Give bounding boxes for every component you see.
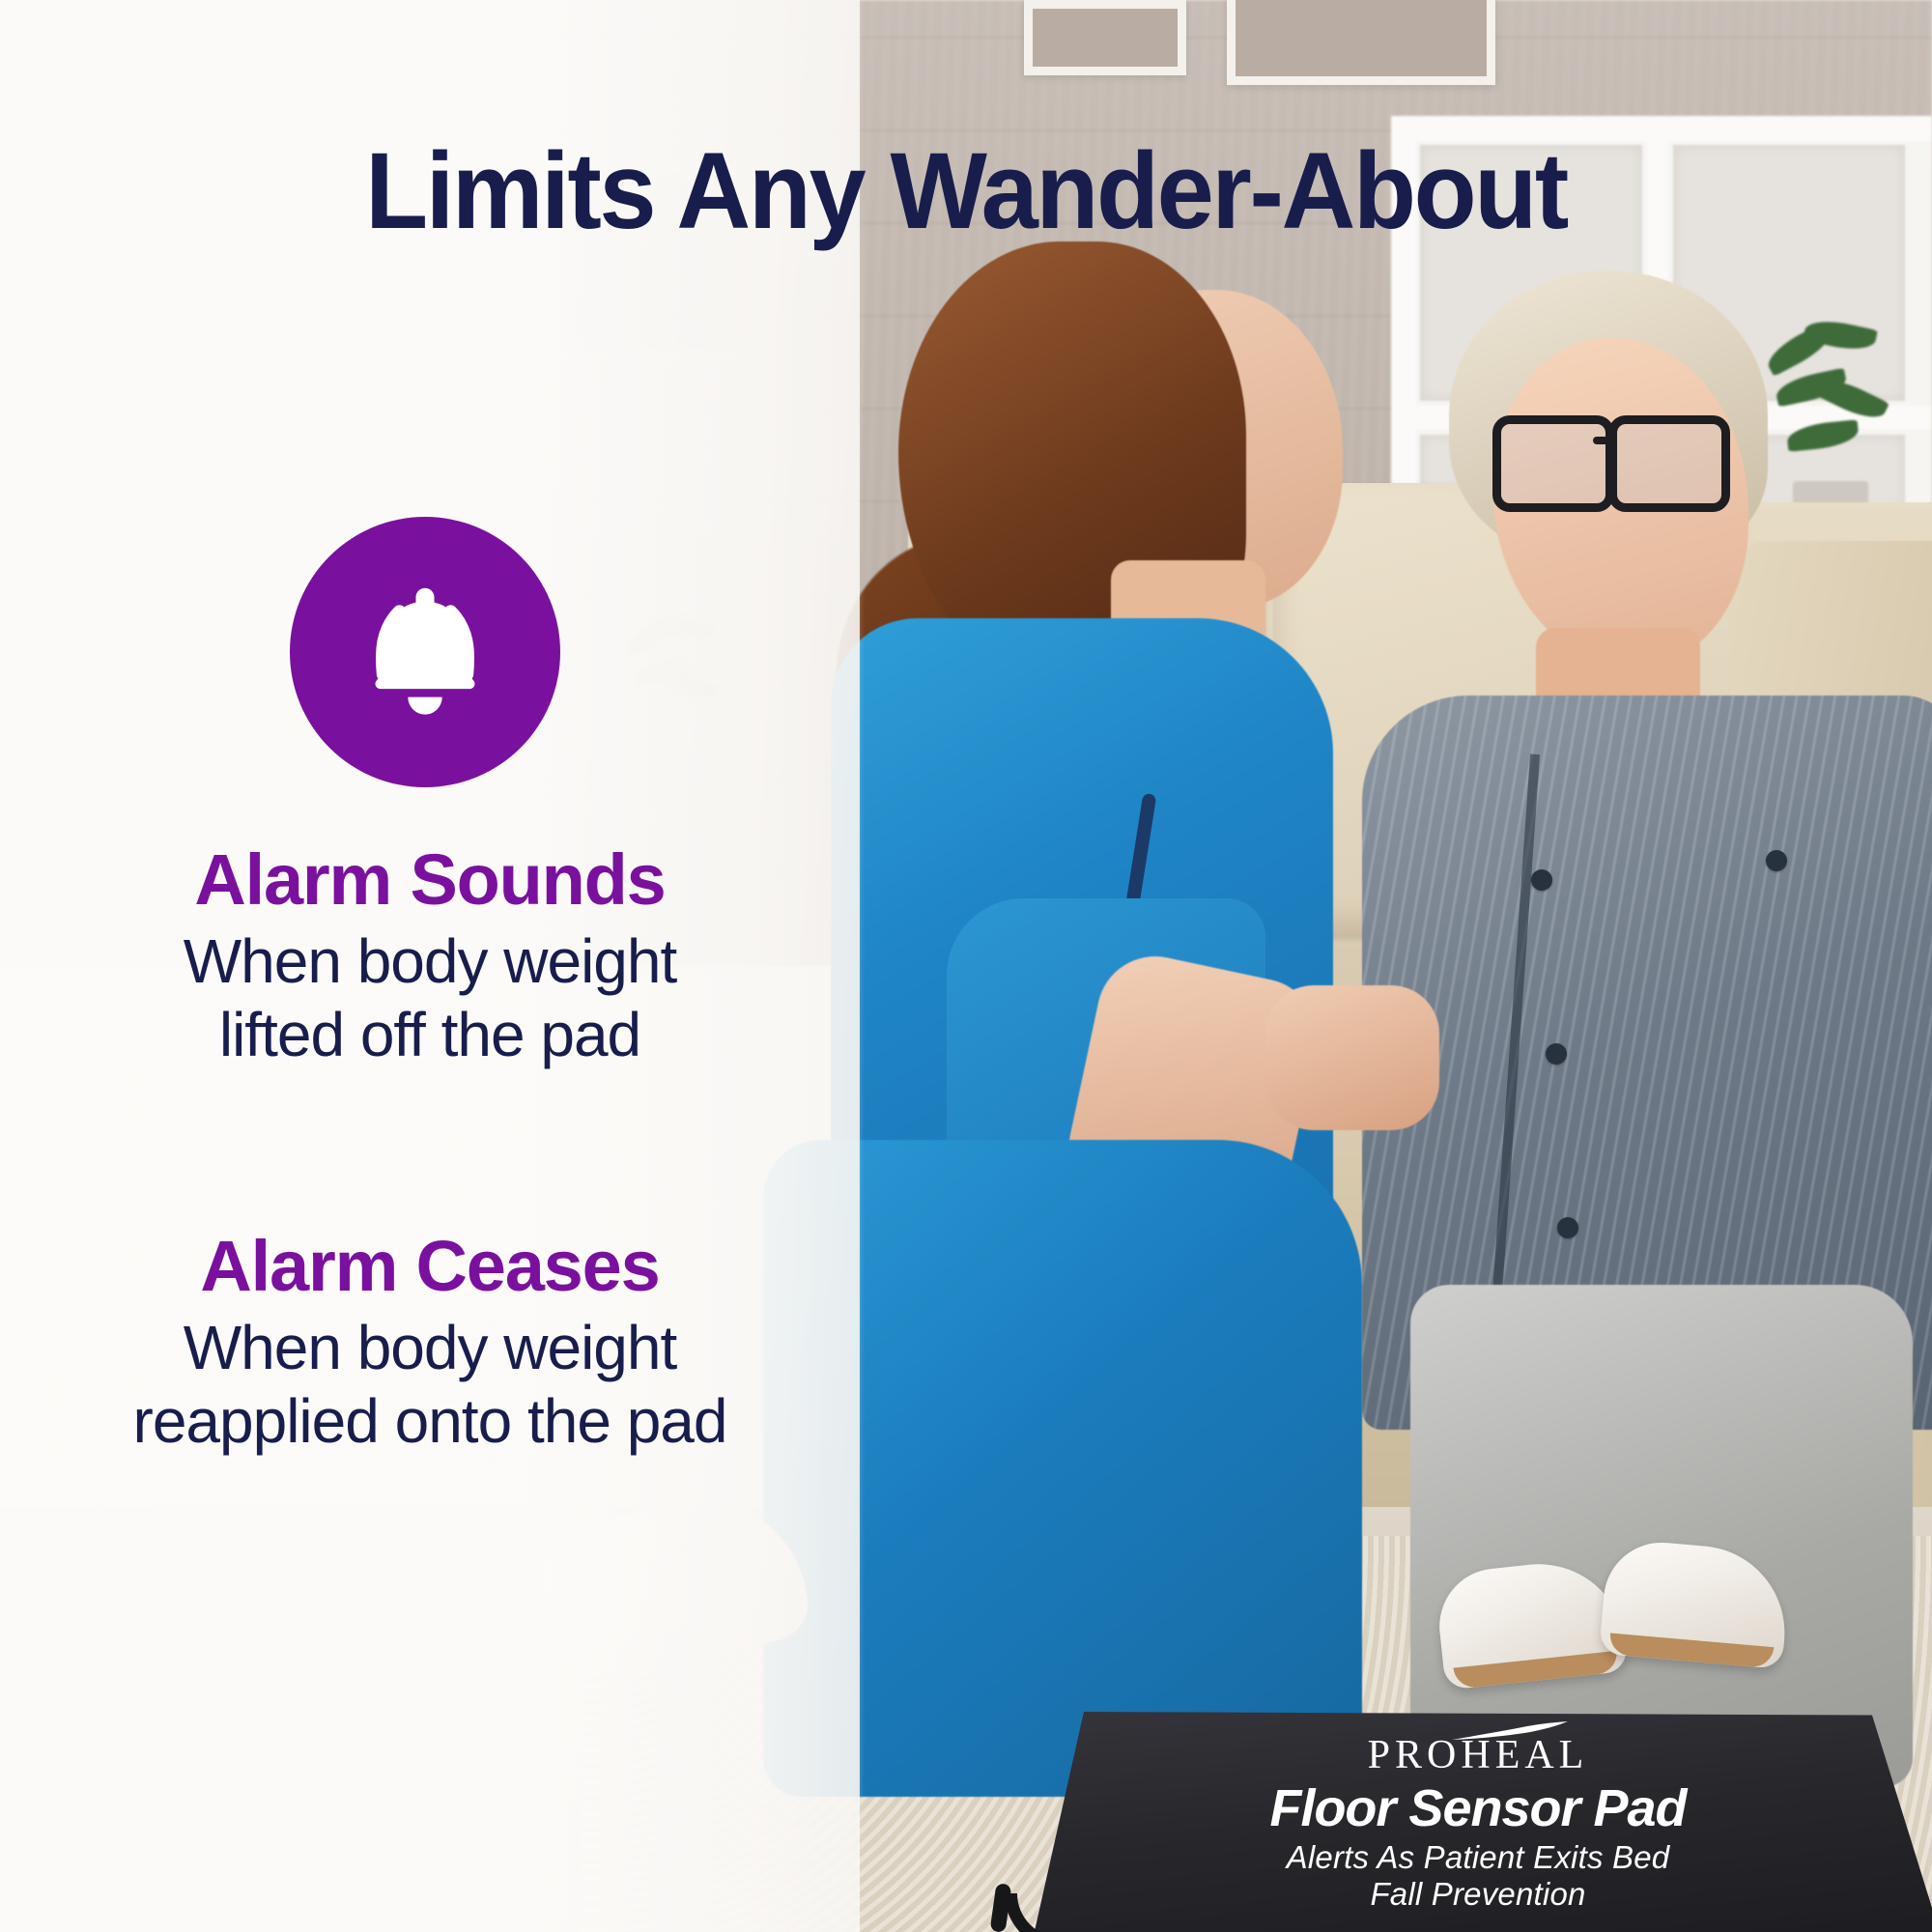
wall-picture-frame [1227,0,1495,85]
bell-icon-circle [290,517,560,787]
shirt-button [1531,869,1552,891]
feature-subline-1: When body weight [0,925,860,999]
feature-kicker: Alarm Sounds [0,842,860,918]
page-title: Limits Any Wander-About [48,136,1884,246]
bell-icon [343,570,507,734]
feature-kicker: Alarm Ceases [0,1229,860,1304]
patient-trousers [1410,1285,1913,1787]
wall-picture-frame [1024,0,1186,75]
product-name: Floor Sensor Pad [1014,1781,1932,1836]
feature-subline-1: When body weight [0,1312,860,1385]
feature-subline-2: lifted off the pad [0,999,860,1072]
feature-subline-2: reapplied onto the pad [0,1385,860,1459]
shirt-button [1766,850,1787,871]
pad-power-cord [1005,1893,1346,1932]
brand-name: PROHEAL [1368,1733,1589,1777]
eyeglasses-icon [1492,415,1734,502]
feature-block-alarm-ceases: Alarm Ceases When body weight reapplied … [0,1229,860,1458]
proheal-logo: PROHEAL [1368,1725,1589,1776]
product-tagline-1: Alerts As Patient Exits Bed [1014,1840,1932,1875]
feature-block-alarm-sounds: Alarm Sounds When body weight lifted off… [0,842,860,1071]
held-hands [1265,985,1439,1130]
alarm-bell-badge [290,517,560,787]
shirt-button [1557,1217,1578,1238]
shirt-button [1546,1043,1567,1065]
marketing-image: Limits Any Wander-About Alarm Sounds Whe… [0,0,1932,1932]
